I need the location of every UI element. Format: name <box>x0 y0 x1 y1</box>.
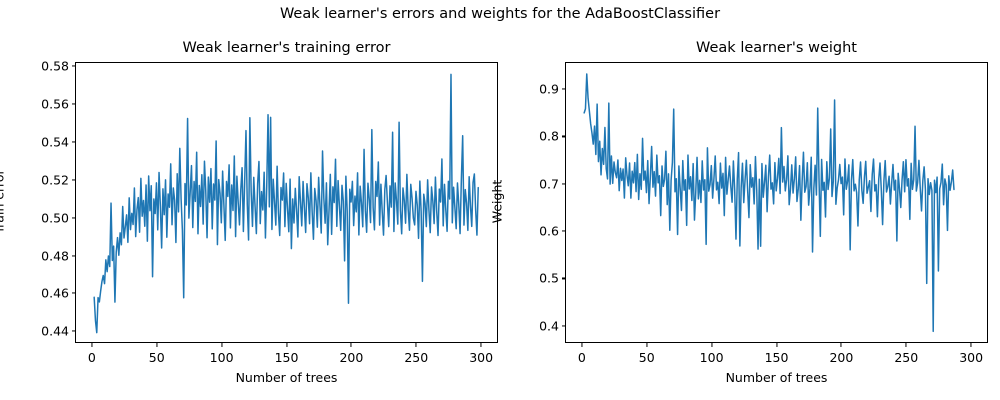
x-tick-mark <box>711 343 712 347</box>
x-tick-label: 50 <box>639 350 655 365</box>
y-tick-label: 0.50 <box>41 210 69 225</box>
y-tick-label: 0.58 <box>41 59 69 74</box>
subplot-title-training-error: Weak learner's training error <box>75 40 498 56</box>
x-tick-label: 0 <box>88 350 96 365</box>
y-tick-label: 0.4 <box>539 318 559 333</box>
y-tick-mark <box>562 183 566 184</box>
x-tick-mark <box>581 343 582 347</box>
x-axis-label-right: Number of trees <box>565 370 988 385</box>
y-axis-label-train-error: Train error <box>0 141 7 261</box>
y-tick-label: 0.48 <box>41 248 69 263</box>
line-series-train-error <box>76 63 498 343</box>
y-tick-label: 0.46 <box>41 286 69 301</box>
x-tick-label: 150 <box>275 350 299 365</box>
x-tick-mark <box>91 343 92 347</box>
y-tick-mark <box>72 217 76 218</box>
y-tick-label: 0.8 <box>539 129 559 144</box>
x-tick-mark <box>906 343 907 347</box>
subplot-weight: Weak learner's weight Weight Number of t… <box>565 62 988 343</box>
x-tick-label: 100 <box>210 350 234 365</box>
x-tick-label: 100 <box>700 350 724 365</box>
subplot-training-error: Weak learner's training error Train erro… <box>75 62 498 343</box>
y-tick-mark <box>562 231 566 232</box>
x-tick-mark <box>841 343 842 347</box>
figure-suptitle: Weak learner's errors and weights for th… <box>0 6 1000 22</box>
x-tick-label: 200 <box>339 350 363 365</box>
x-tick-mark <box>971 343 972 347</box>
y-tick-mark <box>562 325 566 326</box>
y-tick-mark <box>562 136 566 137</box>
y-tick-mark <box>72 103 76 104</box>
y-tick-mark <box>562 278 566 279</box>
y-tick-mark <box>72 141 76 142</box>
x-tick-label: 300 <box>469 350 493 365</box>
y-tick-label: 0.9 <box>539 82 559 97</box>
y-tick-mark <box>72 179 76 180</box>
y-tick-mark <box>72 66 76 67</box>
line-series-weight <box>566 63 988 343</box>
y-tick-label: 0.44 <box>41 324 69 339</box>
y-tick-label: 0.5 <box>539 271 559 286</box>
x-tick-label: 200 <box>829 350 853 365</box>
y-tick-mark <box>562 89 566 90</box>
x-tick-mark <box>481 343 482 347</box>
y-tick-mark <box>72 331 76 332</box>
y-tick-label: 0.52 <box>41 172 69 187</box>
x-tick-label: 250 <box>894 350 918 365</box>
x-tick-mark <box>156 343 157 347</box>
y-tick-mark <box>72 293 76 294</box>
x-tick-label: 300 <box>959 350 983 365</box>
y-axis-label-weight: Weight <box>490 141 505 261</box>
y-tick-label: 0.6 <box>539 224 559 239</box>
x-tick-mark <box>286 343 287 347</box>
plot-area-training-error[interactable] <box>75 62 498 343</box>
x-tick-mark <box>416 343 417 347</box>
y-tick-label: 0.56 <box>41 97 69 112</box>
y-tick-mark <box>72 255 76 256</box>
y-tick-label: 0.7 <box>539 176 559 191</box>
plot-area-weight[interactable] <box>565 62 988 343</box>
x-tick-label: 0 <box>578 350 586 365</box>
subplot-title-weight: Weak learner's weight <box>565 40 988 56</box>
x-tick-label: 150 <box>765 350 789 365</box>
x-tick-mark <box>776 343 777 347</box>
x-axis-label-left: Number of trees <box>75 370 498 385</box>
x-tick-mark <box>646 343 647 347</box>
matplotlib-figure: Weak learner's errors and weights for th… <box>0 0 1000 400</box>
x-tick-mark <box>221 343 222 347</box>
x-tick-label: 50 <box>149 350 165 365</box>
y-tick-label: 0.54 <box>41 134 69 149</box>
x-tick-mark <box>351 343 352 347</box>
x-tick-label: 250 <box>404 350 428 365</box>
